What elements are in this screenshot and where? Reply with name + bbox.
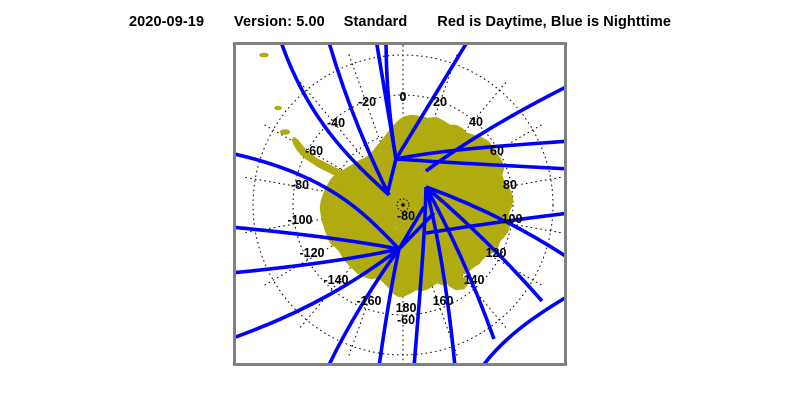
lon-label-0: 0	[400, 91, 407, 104]
lon-label-160: 160	[433, 295, 454, 308]
pole-dot	[401, 203, 405, 207]
night-track-24	[482, 295, 564, 363]
lon-label-120: 120	[486, 247, 507, 260]
continent-main	[320, 115, 513, 297]
lon-label-m40: -40	[327, 117, 345, 130]
lon-label-m100: -100	[287, 214, 312, 227]
title-legend: Red is Daytime, Blue is Nighttime	[437, 14, 671, 30]
island-1	[280, 130, 290, 135]
lon-label-100: 100	[502, 213, 523, 226]
lon-label-m120: -120	[299, 247, 324, 260]
lon-label-40: 40	[469, 116, 483, 129]
lon-label-m160: -160	[356, 295, 381, 308]
title-version: Version: 5.00	[234, 14, 325, 30]
lat-label-m80: -80	[397, 210, 415, 223]
lat-label-m60: -60	[397, 314, 415, 327]
lon-label-60: 60	[490, 145, 504, 158]
lon-label-m20: -20	[358, 96, 376, 109]
map-canvas: 0 20 40 60 80 100 120 140 160 180 -160 -…	[236, 45, 564, 363]
lon-label-m60: -60	[305, 145, 323, 158]
lon-label-140: 140	[464, 274, 485, 287]
polar-map-plot[interactable]: 0 20 40 60 80 100 120 140 160 180 -160 -…	[233, 42, 567, 366]
app-root: 2020-09-19 Version: 5.00 Standard Red is…	[0, 0, 800, 400]
title-date: 2020-09-19	[129, 14, 204, 30]
title-mode: Standard	[344, 14, 408, 30]
lon-label-m140: -140	[323, 274, 348, 287]
island-2	[275, 106, 282, 110]
island-3	[260, 53, 269, 57]
page-title: 2020-09-19 Version: 5.00 Standard Red is…	[0, 14, 800, 38]
lon-label-m80: -80	[291, 179, 309, 192]
lon-label-20: 20	[433, 96, 447, 109]
lon-label-80: 80	[503, 179, 517, 192]
